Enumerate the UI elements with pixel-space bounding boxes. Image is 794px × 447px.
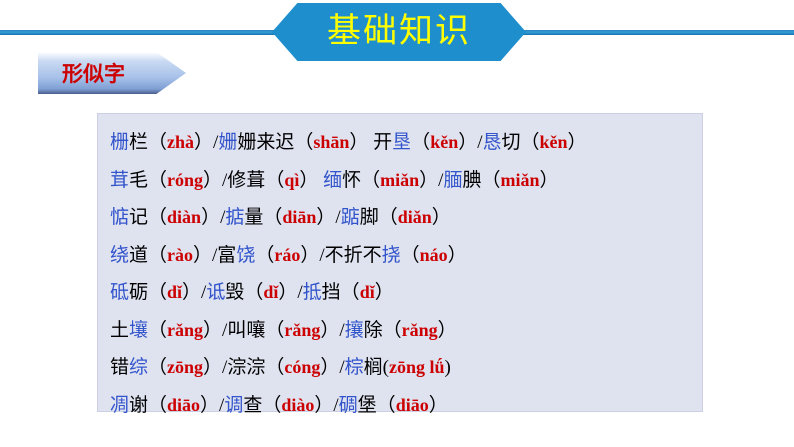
- content-panel: 栅栏（zhà）/姗姗来迟（shān） 开垦（kěn）/恳切（kěn）茸毛（rón…: [97, 113, 703, 412]
- word-segment: 腼: [443, 170, 462, 191]
- word-segment: shān: [313, 132, 349, 152]
- word-segment: kěn: [430, 132, 458, 152]
- word-segment: （: [148, 320, 167, 341]
- word-segment: zōng lǘ: [389, 357, 445, 377]
- word-segment: 除（: [364, 320, 402, 341]
- word-segment: diāo: [396, 395, 429, 415]
- word-segment: （: [265, 357, 284, 378]
- word-segment: cóng: [284, 357, 320, 377]
- word-line: 土壤（rǎng）/叫嚷（rǎng）/攘除（rǎng）: [110, 312, 702, 350]
- word-segment: diàn: [167, 207, 201, 227]
- word-segment: 凋: [110, 395, 129, 416]
- word-segment: rǎng: [284, 320, 320, 340]
- word-segment: ）/: [194, 132, 218, 153]
- word-segment: （: [255, 245, 274, 266]
- word-segment: 挡（: [322, 282, 360, 303]
- word-segment: 挠: [382, 245, 401, 266]
- word-segment: ）/: [419, 170, 443, 191]
- word-segment: 茸: [110, 170, 129, 191]
- word-segment: ）/: [314, 395, 338, 416]
- word-segment: 调: [224, 395, 243, 416]
- slide-header: 基础知识 形似字: [0, 0, 794, 100]
- word-segment: 土: [110, 320, 129, 341]
- word-segment: rào: [167, 245, 193, 265]
- word-segment: ráo: [274, 245, 300, 265]
- word-segment: diāo: [167, 395, 200, 415]
- word-segment: 恳: [482, 132, 501, 153]
- word-segment: ）: [299, 170, 318, 191]
- word-segment: miǎn: [500, 170, 539, 190]
- word-segment: 腆（: [462, 170, 500, 191]
- word-line: 栅栏（zhà）/姗姗来迟（shān） 开垦（kěn）/恳切（kěn）: [110, 124, 702, 162]
- word-segment: 量（: [244, 207, 282, 228]
- word-segment: ）/富: [193, 245, 236, 266]
- word-line: 凋谢（diāo）/调查（diào）/碉堡（diāo）: [110, 387, 702, 425]
- word-segment: dǐ: [167, 282, 182, 302]
- word-line: 惦记（diàn）/掂量（diān）/踮脚（diǎn）: [110, 199, 702, 237]
- word-segment: 碉: [339, 395, 358, 416]
- word-segment: ）/叫: [203, 320, 246, 341]
- word-segment: ）/: [458, 132, 482, 153]
- word-segment: 姗: [218, 132, 237, 153]
- word-segment: 查（: [243, 395, 281, 416]
- word-segment: （: [265, 320, 284, 341]
- word-segment: ）/: [201, 207, 225, 228]
- word-line: 错综（zōng）/淙淙（cóng）/棕榈(zōng lǘ): [110, 349, 702, 387]
- word-segment: dǐ: [263, 282, 278, 302]
- word-segment: 壤: [129, 320, 148, 341]
- word-segment: rǎng: [167, 320, 203, 340]
- word-segment: （: [411, 132, 430, 153]
- word-segment: 记（: [129, 207, 167, 228]
- section-label-tab: 形似字: [38, 52, 186, 94]
- word-segment: ）/不折不: [300, 245, 381, 266]
- word-segment: 缅: [323, 170, 342, 191]
- word-segment: 怀（: [342, 170, 380, 191]
- word-segment: diān: [282, 207, 316, 227]
- word-segment: （: [148, 357, 167, 378]
- word-segment: 棕: [345, 357, 364, 378]
- word-segment: ）/: [182, 282, 206, 303]
- word-segment: qì: [284, 170, 299, 190]
- word-segment: （: [265, 170, 284, 191]
- word-segment: zhà: [167, 132, 194, 152]
- word-segment: 垦: [392, 132, 411, 153]
- title-banner: 基础知识: [272, 3, 526, 61]
- word-segment: ）: [540, 170, 559, 191]
- word-segment: ）: [448, 245, 467, 266]
- word-segment: 栅: [110, 132, 129, 153]
- word-line: 茸毛（róng）/修葺（qì） 缅怀（miǎn）/腼腆（miǎn）: [110, 162, 702, 200]
- word-line: 绕道（rào）/富饶（ráo）/不折不挠（náo）: [110, 237, 702, 275]
- word-segment: 抵: [303, 282, 322, 303]
- word-segment: ）: [349, 132, 368, 153]
- word-segment: 开: [373, 132, 392, 153]
- word-segment: 嚷: [246, 320, 265, 341]
- word-segment: 姗来迟（: [237, 132, 313, 153]
- header-rule-left: [0, 30, 312, 35]
- word-segment: ）/: [320, 357, 344, 378]
- word-segment: diào: [281, 395, 314, 415]
- word-segment: 谢（: [129, 395, 167, 416]
- word-segment: 砥: [110, 282, 129, 303]
- word-segment: （: [401, 245, 420, 266]
- word-segment: 淙淙: [227, 357, 265, 378]
- word-segment: 绕: [110, 245, 129, 266]
- word-segment: 惦: [110, 207, 129, 228]
- word-segment: ）/修: [203, 170, 246, 191]
- word-segment: 砺（: [129, 282, 167, 303]
- section-label-text: 形似字: [62, 58, 125, 88]
- word-segment: 掂: [225, 207, 244, 228]
- word-line: 砥砺（dǐ）/诋毁（dǐ）/抵挡（dǐ）: [110, 274, 702, 312]
- word-segment: 道（: [129, 245, 167, 266]
- word-segment: kěn: [540, 132, 568, 152]
- word-segment: ）: [438, 320, 457, 341]
- word-segment: zōng: [167, 357, 203, 377]
- word-segment: ）/: [203, 357, 227, 378]
- word-segment: 诋: [206, 282, 225, 303]
- word-segment: ): [445, 357, 451, 378]
- word-segment: ）/: [200, 395, 224, 416]
- word-segment: 葺: [246, 170, 265, 191]
- word-segment: miǎn: [380, 170, 419, 190]
- word-segment: 切（: [502, 132, 540, 153]
- word-segment: 毛（: [129, 170, 167, 191]
- word-segment: ）/: [278, 282, 302, 303]
- word-segment: 综: [129, 357, 148, 378]
- word-segment: 脚（: [360, 207, 398, 228]
- word-segment: ）/: [316, 207, 340, 228]
- word-list: 栅栏（zhà）/姗姗来迟（shān） 开垦（kěn）/恳切（kěn）茸毛（rón…: [110, 124, 702, 424]
- page-title: 基础知识: [327, 15, 471, 49]
- word-segment: ）: [375, 282, 394, 303]
- word-segment: 榈(: [364, 357, 389, 378]
- header-rule-right: [520, 30, 794, 35]
- word-segment: diǎn: [398, 207, 432, 227]
- word-segment: ）: [568, 132, 587, 153]
- word-segment: 饶: [236, 245, 255, 266]
- word-segment: 踮: [341, 207, 360, 228]
- word-segment: 栏（: [129, 132, 167, 153]
- word-segment: rǎng: [402, 320, 438, 340]
- word-segment: ）/: [320, 320, 344, 341]
- word-segment: róng: [167, 170, 203, 190]
- word-segment: ）: [432, 207, 451, 228]
- word-segment: náo: [420, 245, 448, 265]
- word-segment: 错: [110, 357, 129, 378]
- word-segment: dǐ: [360, 282, 375, 302]
- word-segment: 攘: [345, 320, 364, 341]
- word-segment: 毁（: [225, 282, 263, 303]
- word-segment: 堡（: [358, 395, 396, 416]
- word-segment: ）: [429, 395, 448, 416]
